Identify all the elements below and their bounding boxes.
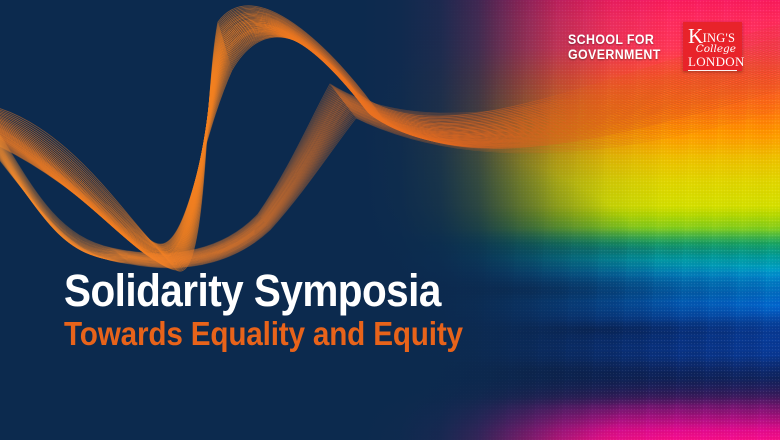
kcl-logo-ings: ING'S bbox=[703, 32, 735, 45]
kcl-logo-rule bbox=[688, 70, 737, 71]
page-title: Solidarity Symposia bbox=[64, 268, 463, 314]
school-for-government-wordmark: SCHOOL FOR GOVERNMENT bbox=[568, 32, 661, 62]
kcl-logo-london: LONDON bbox=[688, 55, 737, 68]
school-line-1: SCHOOL FOR bbox=[568, 32, 661, 47]
solidarity-symposia-banner: SCHOOL FOR GOVERNMENT K ING'S College LO… bbox=[0, 0, 780, 440]
kcl-logo-college: College bbox=[688, 44, 737, 54]
page-subtitle: Towards Equality and Equity bbox=[64, 316, 463, 352]
branding-lockup: SCHOOL FOR GOVERNMENT K ING'S College LO… bbox=[568, 22, 742, 71]
school-line-2: GOVERNMENT bbox=[568, 47, 661, 62]
title-block: Solidarity Symposia Towards Equality and… bbox=[64, 268, 507, 352]
kings-college-london-logo: K ING'S College LONDON bbox=[683, 22, 742, 71]
